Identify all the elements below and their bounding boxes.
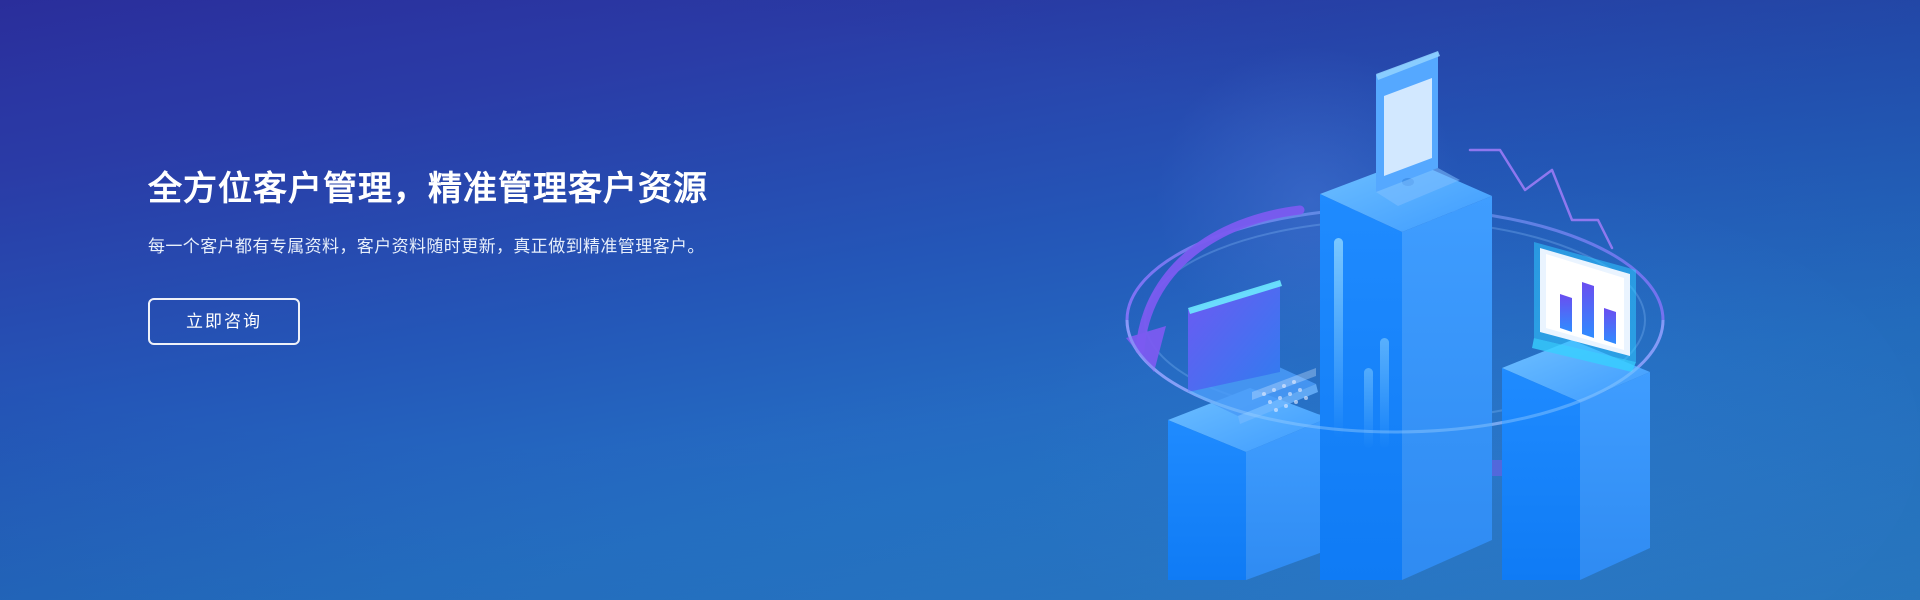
page-title: 全方位客户管理，精准管理客户资源 xyxy=(148,168,788,211)
tablet-icon xyxy=(1376,51,1460,206)
light-streak-2 xyxy=(1364,368,1373,448)
consult-now-button[interactable]: 立即咨询 xyxy=(148,298,300,345)
chart-bar-2 xyxy=(1582,282,1594,338)
hero-banner: 全方位客户管理，精准管理客户资源 每一个客户都有专属资料，客户资料随时更新，真正… xyxy=(0,0,1920,600)
chart-bar-3 xyxy=(1604,308,1616,344)
hero-copy-block: 全方位客户管理，精准管理客户资源 每一个客户都有专属资料，客户资料随时更新，真正… xyxy=(148,168,788,345)
laptop-icon xyxy=(1188,280,1318,424)
hero-illustration xyxy=(1120,20,1680,580)
light-streak-1 xyxy=(1334,238,1343,438)
chart-bar-1 xyxy=(1560,294,1572,332)
pillar-center-tall xyxy=(1320,160,1492,580)
hero-subtitle: 每一个客户都有专属资料，客户资料随时更新，真正做到精准管理客户。 xyxy=(148,233,748,261)
